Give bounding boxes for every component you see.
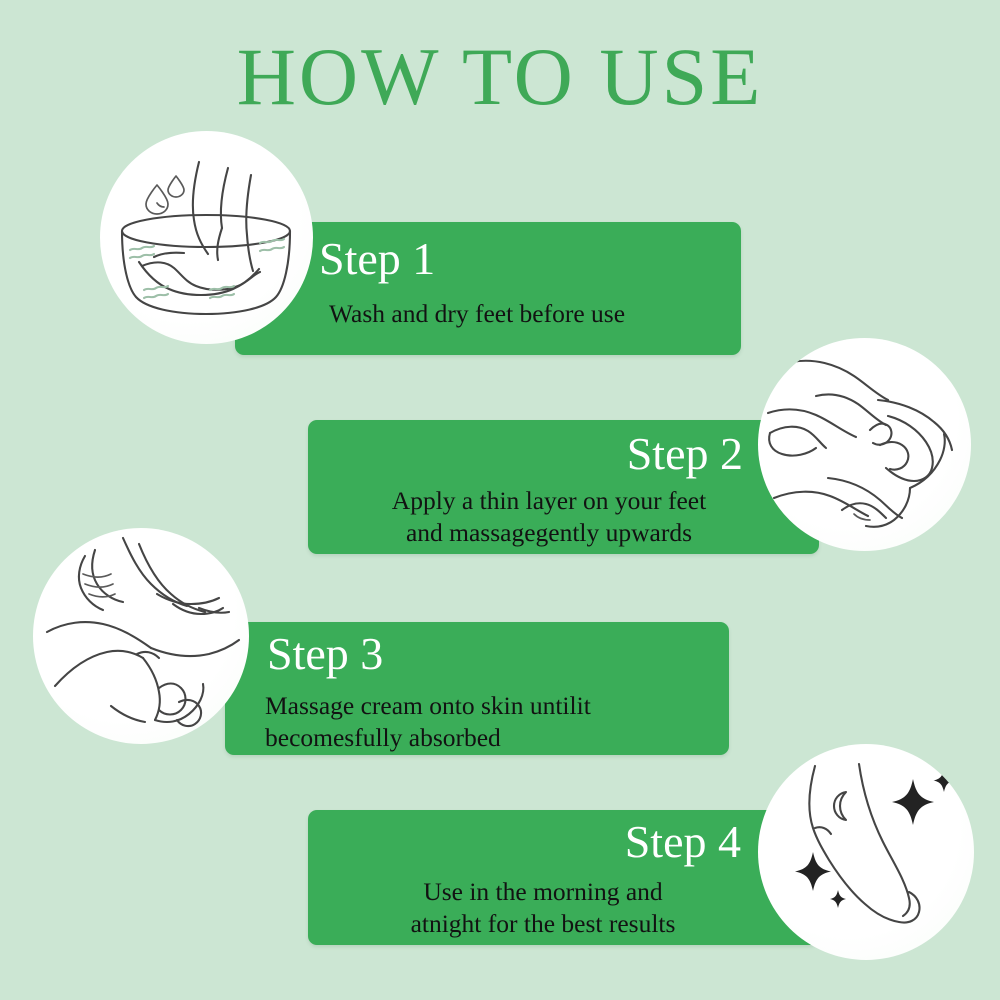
step-1-description: Wash and dry feet before use (329, 298, 729, 330)
step-4-description-line1: Use in the morning and (318, 876, 768, 908)
step-4-description-line2: atnight for the best results (318, 908, 768, 940)
page-title: HOW TO USE (0, 36, 1000, 118)
step-3-description-line2: becomesfully absorbed (265, 722, 690, 754)
step-3-bar: Step 3 Massage cream onto skin untilit b… (225, 622, 729, 755)
hands-applying-cream-foot-icon (33, 528, 249, 744)
step-3-description: Massage cream onto skin untilit becomesf… (265, 690, 690, 755)
how-to-use-poster: HOW TO USE Step 1 Wash and dry feet befo… (0, 0, 1000, 1000)
step-3-label: Step 3 (267, 631, 383, 677)
step-4-label: Step 4 (625, 819, 741, 865)
step-4-description: Use in the morning and atnight for the b… (318, 876, 768, 941)
step-2-label: Step 2 (627, 431, 743, 477)
feet-in-water-basin-icon (100, 131, 313, 344)
step-2-description-line2: and massagegently upwards (324, 517, 774, 549)
hands-massaging-foot-icon (758, 338, 971, 551)
step-2-description-line1: Apply a thin layer on your feet (324, 485, 774, 517)
step-1-label: Step 1 (319, 236, 435, 282)
sparkling-foot-night-icon (758, 744, 974, 960)
step-4-bar: Step 4 Use in the morning and atnight fo… (308, 810, 819, 945)
step-2-description: Apply a thin layer on your feet and mass… (324, 485, 774, 550)
step-2-bar: Step 2 Apply a thin layer on your feet a… (308, 420, 819, 554)
step-3-description-line1: Massage cream onto skin untilit (265, 690, 690, 722)
